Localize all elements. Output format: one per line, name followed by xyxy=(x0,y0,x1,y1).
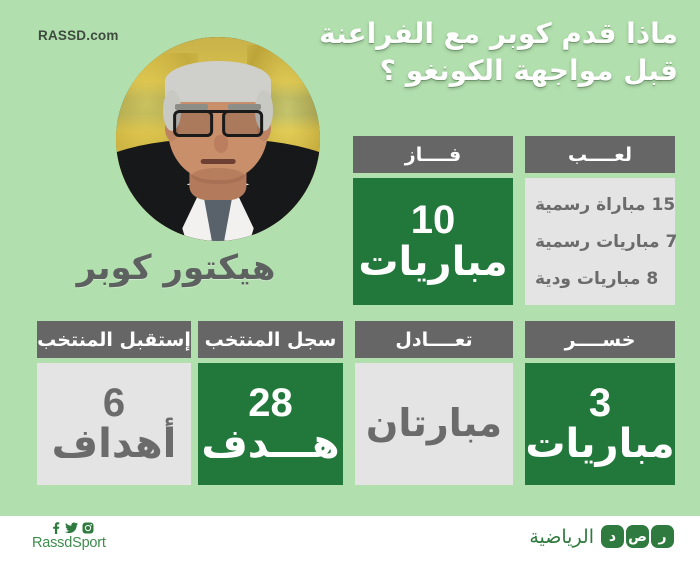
stat-value-conceded: 6 أهداف xyxy=(37,363,191,485)
list-item: 7 مباريات رسمية xyxy=(535,232,677,252)
watermark-text: RASSD.com xyxy=(38,28,119,43)
list-item: 15 مباراة رسمية xyxy=(535,195,675,215)
facebook-icon[interactable] xyxy=(50,522,61,534)
stat-header-lost: خســــر xyxy=(525,321,675,358)
stat-unit-scored: هـــدف xyxy=(201,425,339,464)
infographic-canvas: RASSD.com ماذا قدم كوبر مع الفراعنة قبل … xyxy=(0,0,700,564)
photo-eyeglasses xyxy=(173,110,263,137)
stat-number-won: 10 xyxy=(411,201,456,240)
brand-letter-marks: ر ص د xyxy=(601,525,674,548)
coach-name: هيكتور كوبر xyxy=(16,248,336,288)
photo-lens-right xyxy=(223,110,263,137)
list-item: 8 مباريات ودية xyxy=(535,269,658,289)
stat-header-scored: سجل المنتخب xyxy=(198,321,343,358)
stat-unit-won: مباريات xyxy=(358,243,507,282)
stat-unit-draw: مبارتان xyxy=(366,405,502,442)
twitter-icon[interactable] xyxy=(65,522,78,534)
stat-value-scored: 28 هـــدف xyxy=(198,363,343,485)
photo-mouth xyxy=(201,159,236,163)
brand-mark-letter: ر xyxy=(651,525,674,548)
headline: ماذا قدم كوبر مع الفراعنة قبل مواجهة الك… xyxy=(278,16,678,90)
stat-header-won: فــــاز xyxy=(353,136,513,173)
stat-number-conceded: 6 xyxy=(103,384,125,423)
instagram-icon[interactable] xyxy=(82,522,94,534)
stat-value-draw: مبارتان xyxy=(355,363,513,485)
footer: RassdSport ر ص د الرياضية xyxy=(0,516,700,564)
brand-mark-letter: ص xyxy=(626,525,649,548)
stat-header-draw: تعــــادل xyxy=(355,321,513,358)
stat-unit-conceded: أهداف xyxy=(52,425,177,464)
social-icons xyxy=(50,522,106,534)
stat-value-lost: 3 مباريات xyxy=(525,363,675,485)
stat-value-won: 10 مباريات xyxy=(353,178,513,305)
brand-word: الرياضية xyxy=(529,526,594,548)
social-block: RassdSport xyxy=(32,522,106,551)
headline-line-2: قبل مواجهة الكونغو ؟ xyxy=(278,53,678,90)
stat-header-played: لعــــب xyxy=(525,136,675,173)
stat-value-played: 15 مباراة رسمية 7 مباريات رسمية 8 مباريا… xyxy=(525,178,675,305)
social-handle[interactable]: RassdSport xyxy=(32,535,106,551)
photo-lens-left xyxy=(173,110,213,137)
stat-number-lost: 3 xyxy=(589,384,611,423)
photo-glasses-bridge xyxy=(206,110,230,113)
photo-hair xyxy=(165,61,271,102)
brand-mark-letter: د xyxy=(601,525,624,548)
stat-number-scored: 28 xyxy=(248,384,293,423)
stat-unit-lost: مباريات xyxy=(525,425,674,464)
brand-logo[interactable]: ر ص د الرياضية xyxy=(529,525,674,548)
headline-line-1: ماذا قدم كوبر مع الفراعنة xyxy=(278,16,678,53)
stat-header-conceded: إستقبل المنتخب xyxy=(37,321,191,358)
